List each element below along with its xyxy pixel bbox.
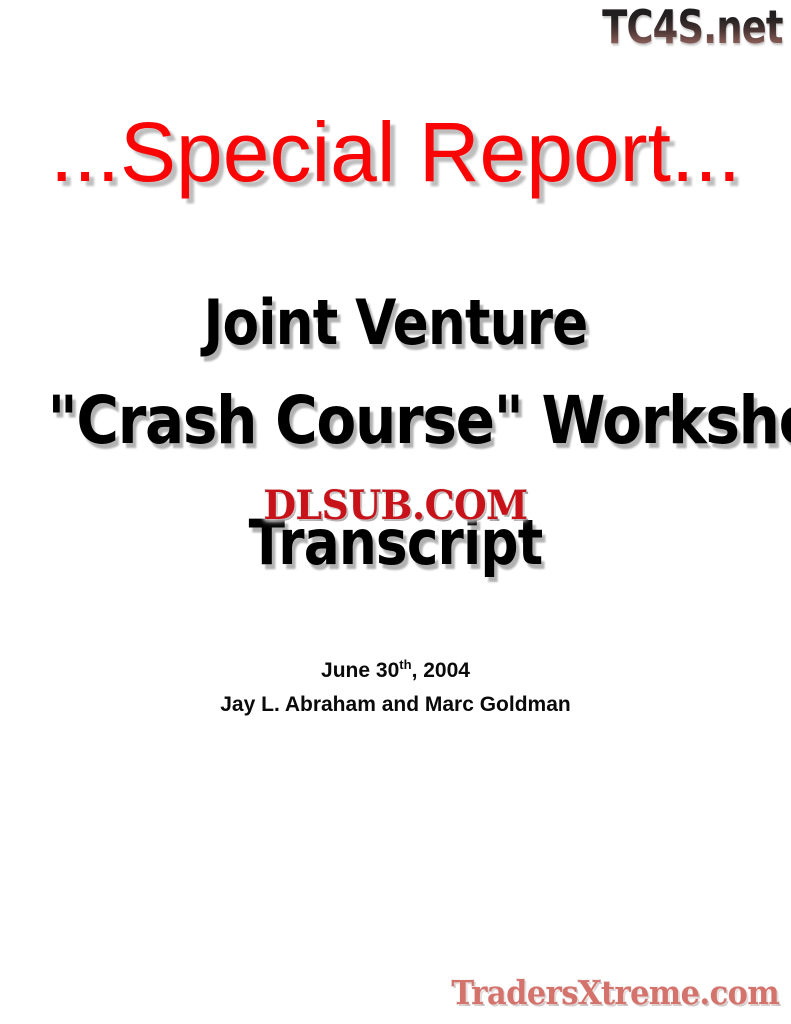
page-title-special-report: ...Special Report... (0, 110, 791, 194)
heading-crash-course-workshop: "Crash Course" Workshop (47, 388, 743, 454)
byline-date: June 30th, 2004 (0, 658, 791, 685)
byline-authors: Jay L. Abraham and Marc Goldman (0, 692, 791, 719)
document-page: TC4S.net ...Special Report... Joint Vent… (0, 0, 791, 1024)
byline-date-ordinal: th (399, 657, 411, 672)
watermark-tradersxtreme: TradersXtreme.com (451, 976, 779, 1009)
byline-date-suffix: , 2004 (412, 659, 470, 682)
heading-transcript: Transcript (55, 512, 735, 574)
site-logo-tc4s: TC4S.net (602, 4, 783, 50)
byline-date-prefix: June 30 (321, 659, 399, 682)
heading-joint-venture: Joint Venture (55, 292, 735, 354)
